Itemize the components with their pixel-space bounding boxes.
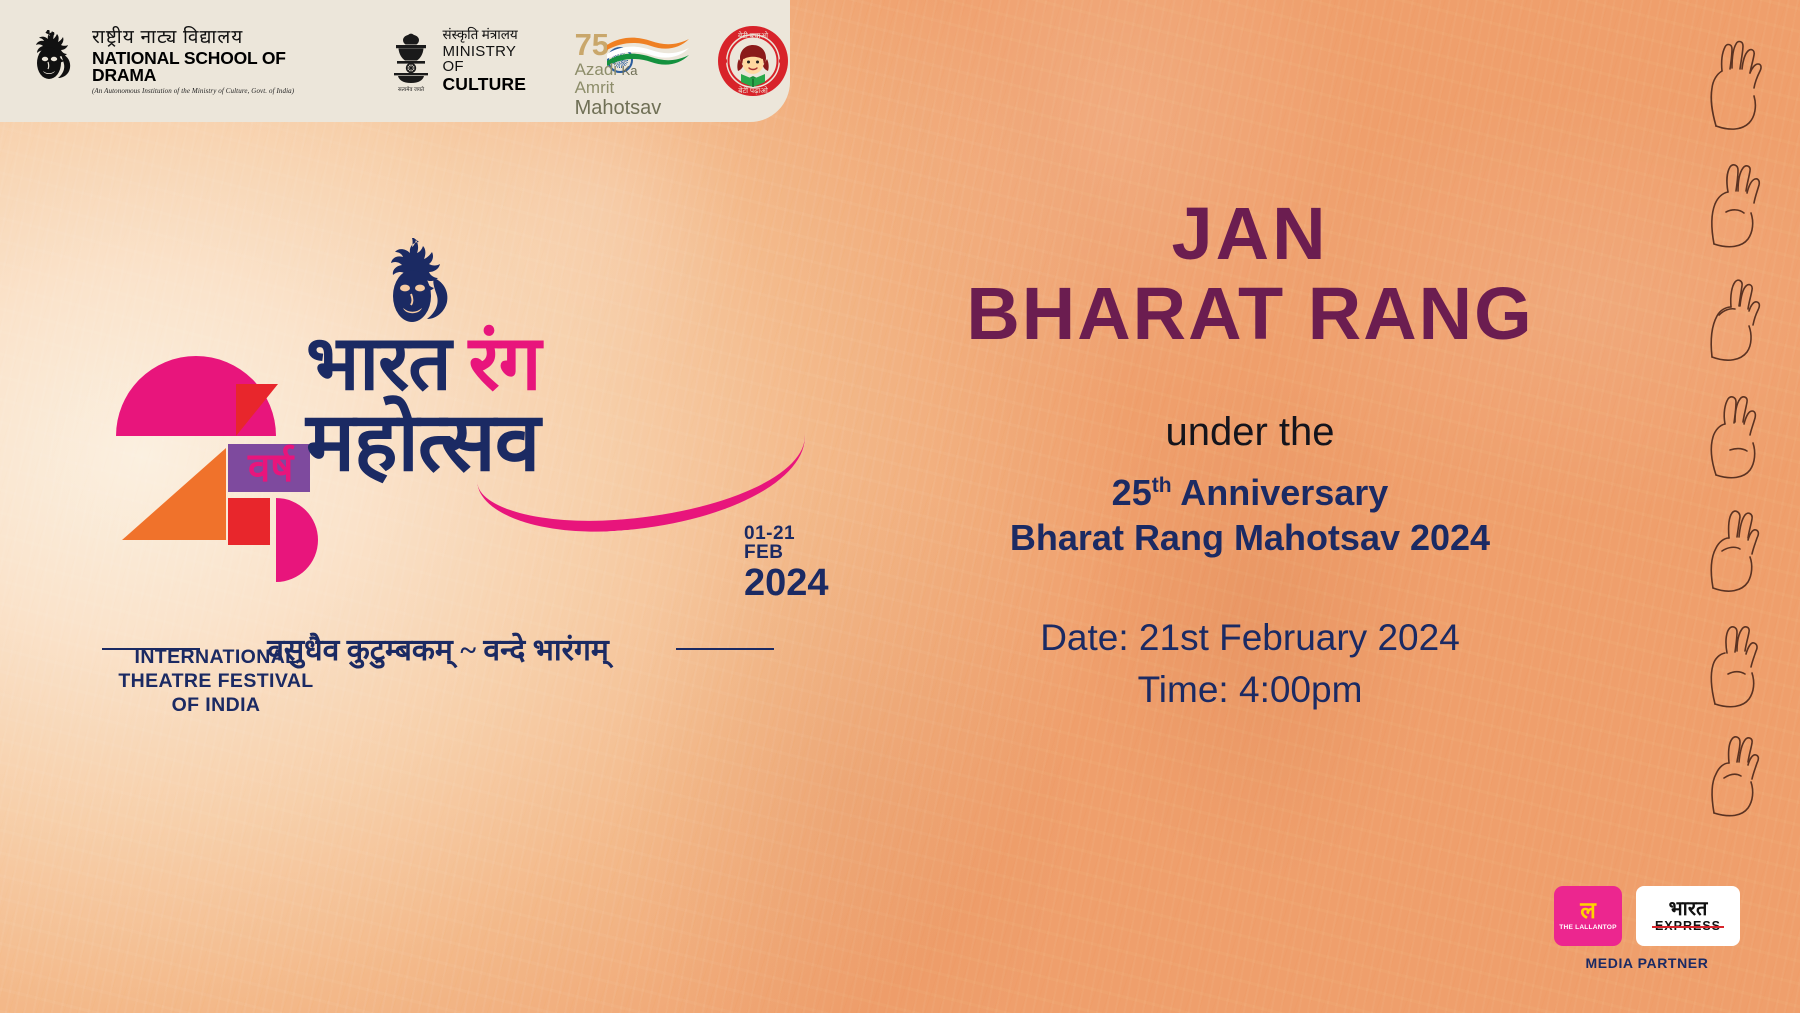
bharat-rang-mahotsav-logo: वर्ष INTERNATIONAL THEATRE FESTIVAL OF I… (96, 238, 776, 668)
header-logo-bar: राष्ट्रीय नाट्य विद्यालय NATIONAL SCHOOL… (0, 0, 790, 122)
lallantop-glyph: ल (1580, 901, 1596, 921)
shape-orange-triangle (122, 448, 226, 540)
ashoka-emblem-icon: सत्यमेव जयते (389, 28, 433, 94)
azadi-word-azadi: Azadi (575, 60, 618, 79)
mudra-illustration-strip (1660, 0, 1800, 1013)
festival-dates-range: 01-21 FEB (744, 524, 829, 562)
event-details-block: JAN BHARAT RANG under the 25th Anniversa… (880, 196, 1620, 717)
event-title-line2: BHARAT RANG (880, 275, 1620, 353)
azadi-word-mahotsav: Mahotsav (575, 97, 662, 119)
event-title-line1: JAN (880, 196, 1620, 271)
festival-dates: 01-21 FEB 2024 (744, 524, 829, 602)
mudra-hand-icon-4 (1686, 380, 1778, 484)
svg-text:बेटी पढ़ाओ: बेटी पढ़ाओ (738, 86, 768, 95)
logo-beti-bachao-beti-padhao: बेटी बचाओ बेटी पढ़ाओ (716, 24, 790, 98)
azadi-text-block: Azadi Ka Amrit Mahotsav (575, 61, 690, 118)
event-festival-name: Bharat Rang Mahotsav 2024 (880, 515, 1620, 560)
festival-english-line3: OF INDIA (116, 694, 316, 718)
beti-bachao-icon: बेटी बचाओ बेटी पढ़ाओ (716, 24, 790, 98)
festival-25-numeral-graphic: वर्ष INTERNATIONAL THEATRE FESTIVAL OF I… (116, 356, 316, 571)
media-partner-logos: ल THE LALLANTOP भारत EXPRESS (1554, 886, 1740, 946)
event-anniversary-line: 25th Anniversary (880, 470, 1620, 515)
svg-text:सत्यमेव जयते: सत्यमेव जयते (398, 86, 425, 93)
azadi-word-amrit: Amrit (575, 78, 615, 97)
event-date: Date: 21st February 2024 (880, 612, 1620, 665)
event-poster: राष्ट्रीय नाट्य विद्यालय NATIONAL SCHOOL… (0, 0, 1800, 1013)
moc-hindi-name: संस्कृति मंत्रालय (442, 28, 538, 42)
festival-hindi-rang: रंग (469, 322, 541, 406)
festival-tagline-row: वसुधैव कुटुम्बकम् ~ वन्दे भारंगम् (102, 628, 774, 669)
lallantop-name: THE LALLANTOP (1559, 924, 1616, 931)
anniversary-word: Anniversary (1180, 472, 1388, 513)
media-partner-label: MEDIA PARTNER (1554, 955, 1740, 971)
nsd-subtitle: (An Autonomous Institution of the Minist… (92, 88, 347, 95)
event-schedule: Date: 21st February 2024 Time: 4:00pm (880, 612, 1620, 717)
mudra-hand-icon-7 (1686, 720, 1778, 824)
bharat-express-english: EXPRESS (1655, 919, 1721, 933)
festival-varsha-label: वर्ष (248, 438, 293, 493)
event-time: Time: 4:00pm (880, 664, 1620, 717)
shape-pink-halfcircle (276, 498, 318, 582)
logo-national-school-of-drama: राष्ट्रीय नाट्य विद्यालय NATIONAL SCHOOL… (26, 28, 347, 95)
festival-hindi-bharat: भारत (306, 322, 469, 406)
mudra-hand-icon-3 (1686, 265, 1778, 369)
nsd-hindi-name: राष्ट्रीय नाट्य विद्यालय (92, 28, 347, 47)
festival-dates-year: 2024 (744, 564, 829, 602)
mudra-hand-icon-2 (1686, 150, 1778, 254)
svg-text:बेटी बचाओ: बेटी बचाओ (738, 31, 769, 40)
shape-red-triangle (236, 384, 278, 436)
nsd-text-block: राष्ट्रीय नाट्य विद्यालय NATIONAL SCHOOL… (92, 28, 347, 95)
nsd-english-name: NATIONAL SCHOOL OF DRAMA (92, 50, 347, 85)
festival-tagline: वसुधैव कुटुम्बकम् ~ वन्दे भारंगम् (214, 628, 662, 669)
festival-pink-swoosh (471, 377, 810, 541)
drama-mask-icon (26, 30, 82, 92)
tagline-rule-left (102, 648, 200, 650)
moc-english-line1: MINISTRY OF (442, 44, 538, 76)
logo-ministry-of-culture: सत्यमेव जयते संस्कृति मंत्रालय MINISTRY … (389, 28, 538, 94)
bharat-express-hindi: भारत (1669, 900, 1708, 918)
logo-azadi-ka-amrit-mahotsav: 75 Azadi Ka Amrit Mahotsav (575, 25, 690, 97)
tagline-rule-right (676, 648, 774, 650)
moc-text-block: संस्कृति मंत्रालय MINISTRY OF CULTURE (442, 28, 538, 93)
shape-red-square (228, 498, 270, 545)
mudra-hand-icon-1 (1686, 30, 1778, 134)
logo-bharat-express: भारत EXPRESS (1636, 886, 1740, 946)
festival-english-line2: THEATRE FESTIVAL (116, 670, 316, 694)
mudra-hand-icon-6 (1686, 610, 1778, 714)
media-partners-block: ल THE LALLANTOP भारत EXPRESS MEDIA PARTN… (1554, 886, 1740, 971)
anniversary-number: 25 (1112, 472, 1152, 513)
mudra-hand-icon-5 (1686, 495, 1778, 599)
azadi-word-ka: Ka (622, 63, 638, 78)
event-under-the-label: under the (880, 410, 1620, 454)
anniversary-suffix: th (1152, 474, 1172, 497)
logo-the-lallantop: ल THE LALLANTOP (1554, 886, 1622, 946)
moc-english-line2: CULTURE (442, 75, 538, 93)
